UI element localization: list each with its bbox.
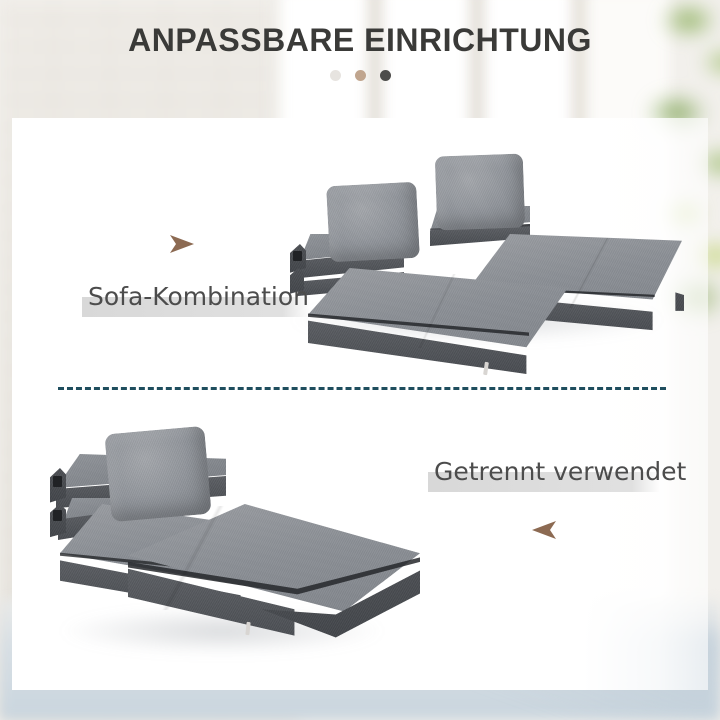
section-divider — [58, 387, 666, 390]
throw-pillow — [104, 426, 211, 522]
pagination-dot-3 — [380, 70, 391, 81]
mattress-left — [308, 268, 568, 398]
product-combined-configuration — [282, 150, 682, 350]
pagination-dot-2 — [355, 70, 366, 81]
pagination-dots — [0, 70, 720, 81]
arrow-right-glyph — [168, 234, 196, 254]
page-title: ANPASSBARE EINRICHTUNG — [0, 22, 720, 59]
backrest-handle — [53, 476, 62, 487]
brand-tag — [245, 622, 250, 635]
backrest-left-handle — [293, 251, 302, 261]
callout-sofa-combination-label: Sofa-Kombination — [82, 281, 332, 313]
callout-sofa-combination: Sofa-Kombination — [82, 281, 332, 319]
product-infographic: ANPASSBARE EINRICHTUNG — [0, 0, 720, 720]
callout-used-separately-label: Getrennt verwendet — [428, 456, 678, 488]
pagination-dot-1 — [330, 70, 341, 81]
callout-used-separately: Getrennt verwendet — [428, 456, 678, 494]
mattress-fold-seam — [128, 506, 258, 610]
arrow-left-glyph — [530, 520, 558, 540]
mattress-front-half — [128, 504, 420, 662]
throw-pillow-left — [326, 182, 420, 263]
product-single-configuration — [42, 412, 422, 662]
throw-pillow-right — [435, 153, 526, 230]
mattress-left-fold-seam — [404, 274, 470, 348]
brand-tag — [483, 362, 489, 375]
